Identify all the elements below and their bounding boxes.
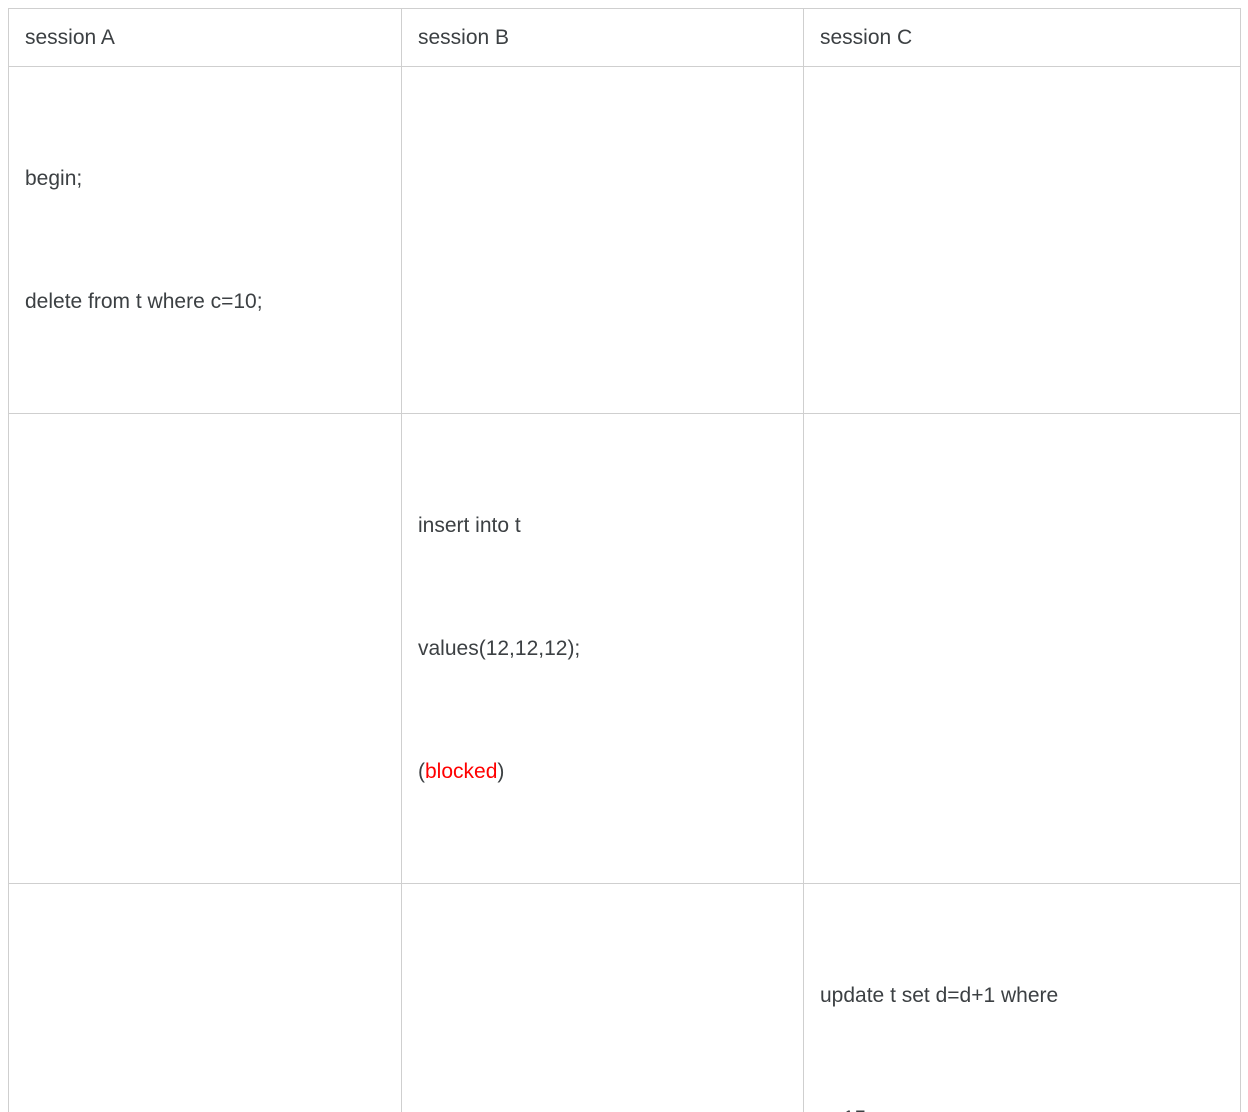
sql-line: values(12,12,12); bbox=[418, 628, 803, 669]
cell-row2-session-c bbox=[804, 414, 1241, 884]
table-header-row: session A session B session C bbox=[9, 9, 1241, 67]
cell-row3-session-b bbox=[402, 884, 804, 1112]
cell-row2-session-a bbox=[9, 414, 402, 884]
sql-statement-block: update t set d=d+1 where c=15; (Query OK… bbox=[820, 893, 1240, 1112]
status-close-paren: ) bbox=[497, 760, 504, 783]
table-body: begin; delete from t where c=10; insert … bbox=[9, 67, 1241, 1112]
status-open-paren: ( bbox=[418, 760, 425, 783]
cell-row1-session-c bbox=[804, 67, 1241, 414]
cell-row2-session-b: insert into t values(12,12,12); (blocked… bbox=[402, 414, 804, 884]
sql-line: delete from t where c=10; bbox=[25, 281, 401, 322]
table-row: update t set d=d+1 where c=15; (Query OK… bbox=[9, 884, 1241, 1112]
status-badge-blocked: blocked bbox=[425, 760, 497, 783]
table-header: session A session B session C bbox=[9, 9, 1241, 67]
column-header-session-b: session B bbox=[402, 9, 804, 67]
sql-line: begin; bbox=[25, 158, 401, 199]
cell-row3-session-c: update t set d=d+1 where c=15; (Query OK… bbox=[804, 884, 1241, 1112]
status-line: (blocked) bbox=[418, 751, 803, 792]
sql-statement-block: begin; delete from t where c=10; bbox=[25, 76, 401, 404]
sql-line: c=15; bbox=[820, 1098, 1240, 1112]
cell-row1-session-b bbox=[402, 67, 804, 414]
table-row: insert into t values(12,12,12); (blocked… bbox=[9, 414, 1241, 884]
sql-line: insert into t bbox=[418, 505, 803, 546]
column-header-session-c: session C bbox=[804, 9, 1241, 67]
cell-row3-session-a bbox=[9, 884, 402, 1112]
sql-statement-block: insert into t values(12,12,12); (blocked… bbox=[418, 423, 803, 874]
session-comparison-table-wrapper: session A session B session C begin; del… bbox=[8, 8, 1240, 1112]
sql-line: update t set d=d+1 where bbox=[820, 975, 1240, 1016]
table-row: begin; delete from t where c=10; bbox=[9, 67, 1241, 414]
session-comparison-table: session A session B session C begin; del… bbox=[8, 8, 1241, 1112]
column-header-session-a: session A bbox=[9, 9, 402, 67]
cell-row1-session-a: begin; delete from t where c=10; bbox=[9, 67, 402, 414]
